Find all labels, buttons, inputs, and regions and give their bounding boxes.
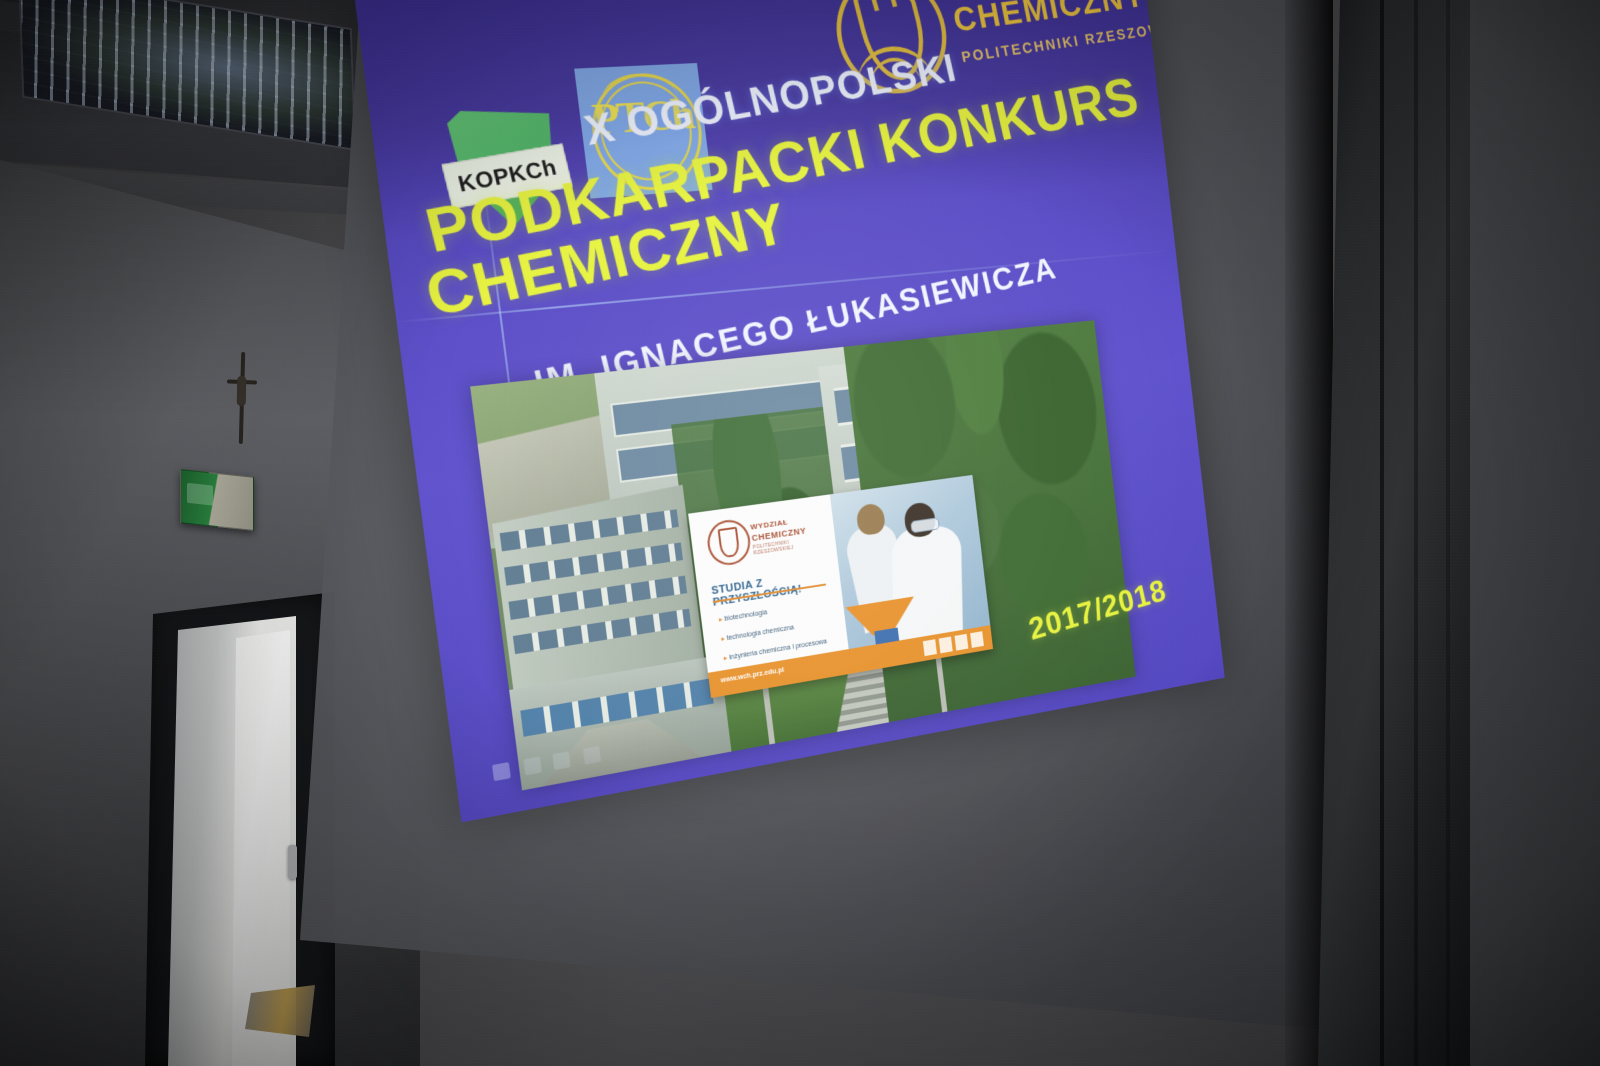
billboard-faculty-logo: WYDZIAŁ CHEMICZNY POLITECHNIKI RZESZOWSK… [705,509,814,568]
taskbar-icon[interactable] [552,751,570,770]
billboard-headline: STUDIA Z PRZYSZŁOŚCIĄ! [711,566,841,609]
exit-sign-glyph [187,483,213,506]
corridor-object [245,985,315,1037]
column-groove [1414,0,1418,1066]
billboard-url: www.wch.prz.edu.pl [720,667,784,685]
taskbar-icon[interactable] [583,746,601,765]
projection-room-scene: WYDZIAŁ CHEMICZNY POLITECHNIKI RZESZOWSK… [0,0,1600,1066]
projected-slide[interactable]: WYDZIAŁ CHEMICZNY POLITECHNIKI RZESZOWSK… [352,0,1225,822]
taskbar-icon[interactable] [492,762,511,781]
taskbar-icon[interactable] [523,756,542,775]
column-groove [1446,0,1450,1066]
column-groove [1380,0,1384,1066]
crucifix-figure [237,376,247,406]
billboard-bullet: biotechnologia [719,608,768,623]
wall-crucifix-icon [225,352,259,444]
right-wall [1470,0,1600,1066]
door-handle[interactable] [288,845,297,879]
emergency-exit-sign-icon [180,469,254,531]
billboard-bullet: technologia chemiczna [721,623,795,642]
billboard-student-coat-front [892,526,964,642]
